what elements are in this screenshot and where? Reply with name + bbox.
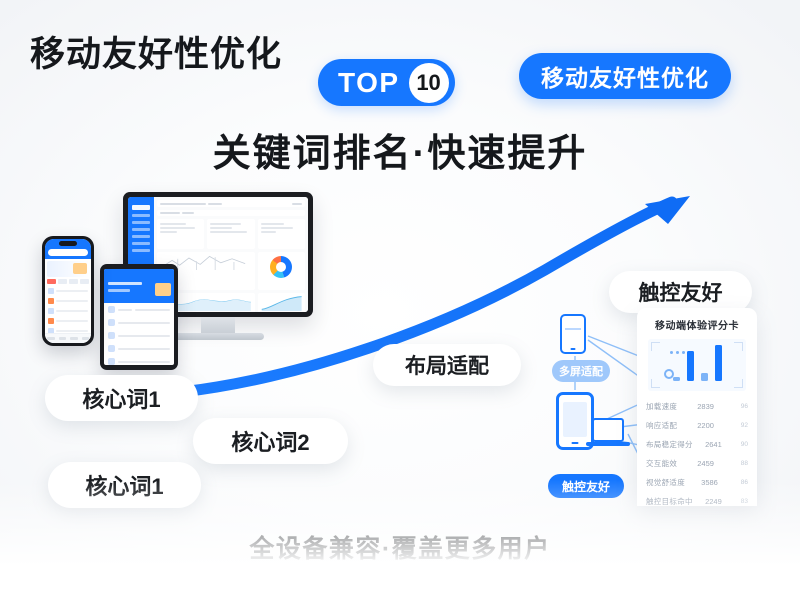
row-value: 2641 <box>705 440 722 449</box>
phone-notch <box>59 241 77 246</box>
row-pct: 83 <box>734 498 748 505</box>
feature-pill-layout[interactable]: 布局适配 <box>373 344 521 386</box>
diagram-laptop-icon <box>592 418 624 442</box>
row-value: 2459 <box>697 459 714 468</box>
score-card-title: 移动端体验评分卡 <box>646 317 748 332</box>
row-label: 视觉舒适度 <box>646 477 685 488</box>
diagram-tag-touch: 触控友好 <box>548 474 624 498</box>
mobile-score-card: 移动端体验评分卡 加载速度 2839 96 响应适配 2200 92 <box>637 308 757 506</box>
table-row: 触控目标命中 2249 83 <box>646 492 748 506</box>
page-title: 移动友好性优化 <box>30 26 282 77</box>
row-pct: 90 <box>734 441 748 448</box>
score-card-chart <box>648 339 746 391</box>
row-label: 响应适配 <box>646 420 677 431</box>
phone-search-bar <box>48 249 88 256</box>
row-pct: 96 <box>734 403 748 410</box>
footer-tagline: 全设备兼容·覆盖更多用户 <box>0 529 800 565</box>
monitor-stand-neck <box>201 317 235 333</box>
smartphone-mockup <box>42 236 94 346</box>
row-label: 触控目标命中 <box>646 496 693 506</box>
table-row: 布局稳定得分 2641 90 <box>646 435 748 454</box>
keyword-pill-1[interactable]: 核心词1 <box>45 375 198 421</box>
row-pct: 92 <box>734 422 748 429</box>
monitor-stand-base <box>172 333 264 340</box>
poster-canvas: 移动友好性优化 TOP 10 移动友好性优化 关键词排名·快速提升 <box>0 0 800 600</box>
top-rank-badge: TOP 10 <box>318 59 455 106</box>
tablet-mockup <box>100 264 178 370</box>
header-tag-badge: 移动友好性优化 <box>519 53 731 99</box>
row-value: 2839 <box>697 402 714 411</box>
diagram-tag-multiscreen: 多屏适配 <box>552 360 610 382</box>
keyword-pill-3[interactable]: 核心词1 <box>48 462 201 508</box>
device-mockup-group <box>28 192 318 362</box>
row-value: 3586 <box>701 478 718 487</box>
table-row: 响应适配 2200 92 <box>646 416 748 435</box>
row-value: 2249 <box>705 497 722 506</box>
row-pct: 86 <box>734 479 748 486</box>
top-badge-number: 10 <box>409 63 449 103</box>
row-label: 交互能效 <box>646 458 677 469</box>
diagram-small-phone-icon <box>560 314 586 354</box>
donut-chart <box>258 252 305 290</box>
row-label: 布局稳定得分 <box>646 439 693 450</box>
keyword-pill-2[interactable]: 核心词2 <box>193 418 348 464</box>
row-label: 加载速度 <box>646 401 677 412</box>
table-row: 视觉舒适度 3586 86 <box>646 473 748 492</box>
diagram-laptop-base <box>586 442 630 446</box>
top-badge-word: TOP <box>338 69 400 97</box>
row-pct: 88 <box>734 460 748 467</box>
page-subtitle: 关键词排名·快速提升 <box>0 122 800 177</box>
table-row: 交互能效 2459 88 <box>646 454 748 473</box>
row-value: 2200 <box>697 421 714 430</box>
score-card-row-list: 加载速度 2839 96 响应适配 2200 92 布局稳定得分 2641 90… <box>646 397 748 506</box>
table-row: 加载速度 2839 96 <box>646 397 748 416</box>
